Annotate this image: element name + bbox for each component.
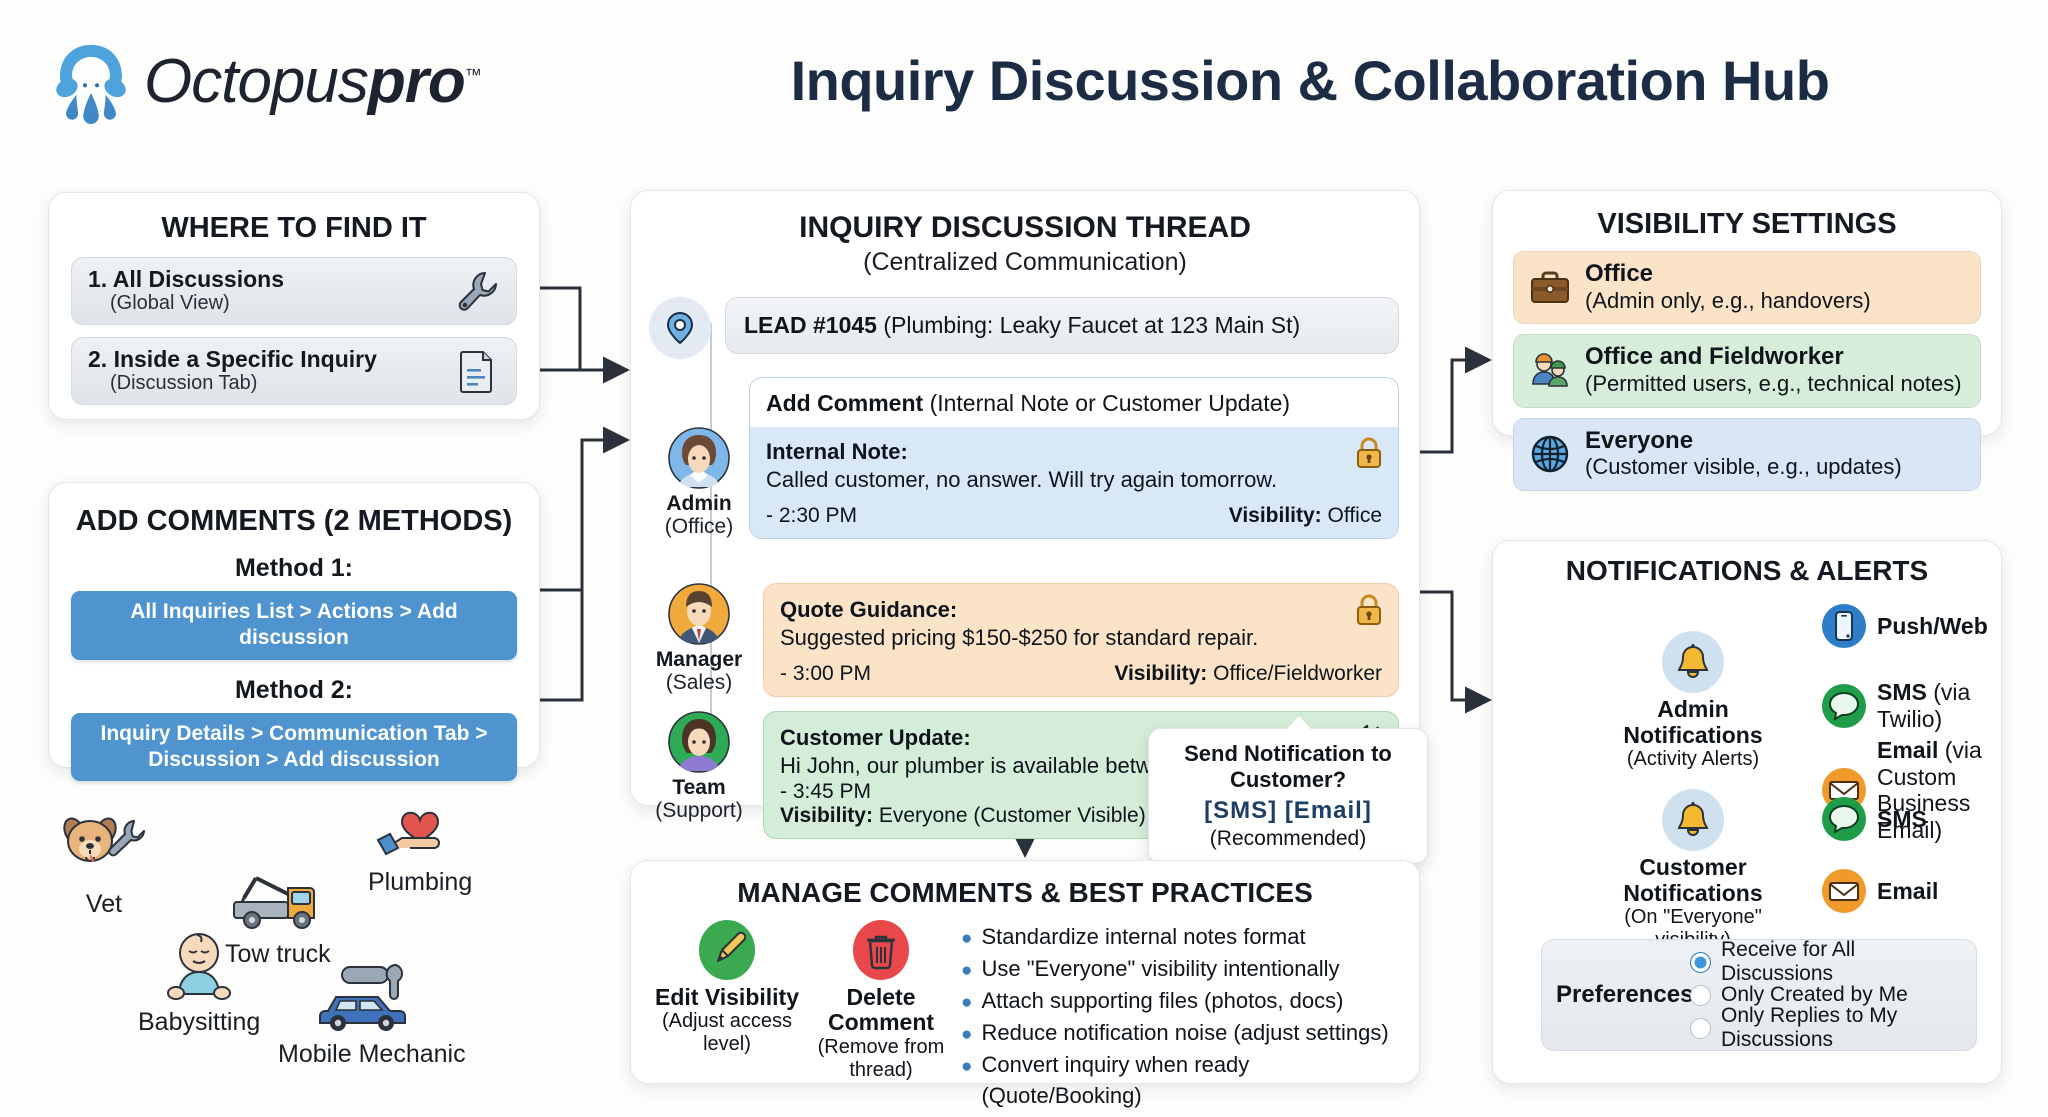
message-title: Quote Guidance: <box>780 596 1382 624</box>
method-1-path[interactable]: All Inquiries List > Actions > Add discu… <box>71 591 517 660</box>
add-comments-card: ADD COMMENTS (2 METHODS) Method 1: All I… <box>48 482 540 768</box>
add-comment-hint: (Internal Note or Customer Update) <box>930 390 1291 416</box>
service-label: Mobile Mechanic <box>278 1040 466 1069</box>
dog-wrench-icon <box>58 810 150 888</box>
page-title: Inquiry Discussion & Collaboration Hub <box>610 48 2010 113</box>
message-title: Internal Note: <box>766 438 1382 466</box>
channel-name: Email <box>1877 878 1938 904</box>
visibility-option-text: Office and Fieldworker (Permitted users,… <box>1585 344 1962 397</box>
manage-action-sub: (Remove from thread) <box>807 1036 955 1082</box>
list-item: ●Standardize internal notes format <box>961 921 1401 953</box>
brand-wordmark: Octopuspro™ <box>144 46 481 117</box>
tip-text: Standardize internal notes format <box>981 921 1305 952</box>
visibility-label: Visibility: <box>1229 504 1322 527</box>
message-time: - 3:00 PM <box>780 662 871 686</box>
service-vet: Vet <box>58 810 150 919</box>
send-notification-title: Send Notification to Customer? <box>1159 741 1417 793</box>
manage-comments-title: MANAGE COMMENTS & BEST PRACTICES <box>631 877 1419 909</box>
car-wrench-icon <box>278 960 466 1038</box>
customer-notifications-hub: Customer Notifications (On "Everyone" vi… <box>1593 789 1793 952</box>
team-avatar-icon <box>668 711 730 773</box>
add-comment-header: Add Comment (Internal Note or Customer U… <box>750 378 1398 427</box>
service-tow-truck: Tow truck <box>225 860 331 969</box>
bell-icon <box>1662 631 1724 693</box>
send-notification-popup: Send Notification to Customer? [SMS] [Em… <box>1148 728 1428 864</box>
preference-option-all-discussions[interactable]: Receive for All Discussions <box>1690 946 1962 979</box>
brand-logo: Octopuspro™ <box>48 38 481 124</box>
preference-label: Receive for All Discussions <box>1721 938 1962 986</box>
edit-pencil-icon <box>696 919 758 981</box>
bell-icon <box>1662 789 1724 851</box>
service-label: Babysitting <box>138 1008 260 1037</box>
tip-text: Use "Everyone" visibility intentionally <box>981 953 1339 984</box>
visibility-option-name: Office <box>1585 261 1871 288</box>
message-author-role: (Sales) <box>649 671 749 694</box>
location-pin-icon <box>649 297 711 359</box>
where-to-find-it-card: WHERE TO FIND IT 1. All Discussions (Glo… <box>48 192 540 420</box>
preference-option-replies-to-my-discussions[interactable]: Only Replies to My Discussions <box>1690 1012 1962 1045</box>
find-row-label: 1. All Discussions <box>88 267 452 292</box>
manage-comments-card: MANAGE COMMENTS & BEST PRACTICES Edit Vi… <box>630 860 1420 1084</box>
wrench-icon <box>452 267 500 315</box>
octopus-logo-icon <box>48 38 134 124</box>
message-footer: - 2:30 PM Visibility: Office <box>766 504 1382 528</box>
tip-text: Attach supporting files (photos, docs) <box>981 985 1343 1016</box>
method-1-label: Method 1: <box>49 554 539 583</box>
visibility-option-everyone[interactable]: Everyone (Customer visible, e.g., update… <box>1513 418 1981 491</box>
visibility-option-desc: (Customer visible, e.g., updates) <box>1585 454 1902 480</box>
notifications-alerts-card: NOTIFICATIONS & ALERTS Admin Notificatio… <box>1492 540 2002 1084</box>
channel-label: SMS <box>1877 806 1927 833</box>
where-to-find-it-title: WHERE TO FIND IT <box>49 212 539 245</box>
visibility-value: Office <box>1328 504 1382 527</box>
edit-visibility-action[interactable]: Edit Visibility (Adjust access level) <box>653 919 801 1111</box>
channel-push-web: Push/Web <box>1821 603 1988 649</box>
manager-avatar-icon <box>668 583 730 645</box>
tip-text: Reduce notification noise (adjust settin… <box>981 1017 1388 1048</box>
thread-subtitle: (Centralized Communication) <box>631 248 1419 277</box>
message-author: Team <box>649 776 749 799</box>
visibility-option-text: Office (Admin only, e.g., handovers) <box>1585 261 1871 314</box>
trademark-symbol: ™ <box>465 65 481 84</box>
hand-heart-icon <box>368 788 472 866</box>
add-comment-block: Add Comment (Internal Note or Customer U… <box>749 377 1399 539</box>
visibility-option-name: Office and Fieldworker <box>1585 344 1962 371</box>
message-author-role: (Support) <box>649 799 749 822</box>
visibility-option-office[interactable]: Office (Admin only, e.g., handovers) <box>1513 251 1981 324</box>
thread-title: INQUIRY DISCUSSION THREAD <box>631 211 1419 245</box>
delete-trash-icon <box>850 919 912 981</box>
message-text: Suggested pricing $150-$250 for standard… <box>780 624 1382 653</box>
send-notification-actions[interactable]: [SMS] [Email] <box>1159 797 1417 825</box>
list-item: ●Use "Everyone" visibility intentionally <box>961 953 1401 985</box>
lead-bubble: LEAD #1045 (Plumbing: Leaky Faucet at 12… <box>725 297 1399 354</box>
manage-action-name: Edit Visibility <box>653 985 801 1010</box>
message-footer: - 3:00 PM Visibility: Office/Fieldworker <box>780 662 1382 686</box>
channel-name: Push/Web <box>1877 613 1988 639</box>
find-row-inside-inquiry[interactable]: 2. Inside a Specific Inquiry (Discussion… <box>71 337 517 405</box>
admin-avatar-icon <box>668 427 730 489</box>
preferences-label: Preferences <box>1556 981 1690 1009</box>
service-mobile-mechanic: Mobile Mechanic <box>278 960 466 1069</box>
admin-notifications-hub: Admin Notifications (Activity Alerts) <box>1593 631 1793 771</box>
inquiry-discussion-thread-card: INQUIRY DISCUSSION THREAD (Centralized C… <box>630 190 1420 806</box>
service-plumbing: Plumbing <box>368 788 472 897</box>
document-icon <box>452 347 500 395</box>
bullet-icon: ● <box>961 1054 972 1081</box>
channel-sms-customer: SMS <box>1821 796 1927 842</box>
bullet-icon: ● <box>961 1022 972 1049</box>
method-2-label: Method 2: <box>49 676 539 705</box>
channel-label: SMS (via Twilio) <box>1877 679 2001 732</box>
message-visibility: Visibility: Office/Fieldworker <box>1114 662 1382 686</box>
message-row-admin: Admin (Office) <box>649 427 749 538</box>
visibility-option-desc: (Admin only, e.g., handovers) <box>1585 288 1871 314</box>
manage-action-name: Delete Comment <box>807 985 955 1036</box>
lead-id: LEAD #1045 <box>744 312 877 338</box>
list-item: ●Reduce notification noise (adjust setti… <box>961 1017 1401 1049</box>
message-time: - 2:30 PM <box>766 504 857 528</box>
visibility-option-office-fieldworker[interactable]: Office and Fieldworker (Permitted users,… <box>1513 334 1981 407</box>
visibility-option-text: Everyone (Customer visible, e.g., update… <box>1585 428 1902 481</box>
preferences-box: Preferences Receive for All Discussions … <box>1541 939 1977 1051</box>
email-envelope-icon <box>1821 868 1867 914</box>
workers-icon <box>1528 349 1572 393</box>
message-text: Called customer, no answer. Will try aga… <box>766 466 1382 495</box>
best-practices-list: ●Standardize internal notes format ●Use … <box>961 919 1401 1111</box>
lead-row: LEAD #1045 (Plumbing: Leaky Faucet at 12… <box>649 297 1399 359</box>
channel-sms-admin: SMS (via Twilio) <box>1821 679 2001 732</box>
message-visibility: Visibility: Office <box>1229 504 1382 528</box>
find-row-text: 2. Inside a Specific Inquiry (Discussion… <box>88 347 452 395</box>
avatar-block-admin: Admin (Office) <box>649 427 749 538</box>
channel-label: Email <box>1877 878 1938 905</box>
find-row-sublabel: (Discussion Tab) <box>110 372 452 395</box>
avatar-block-team: Team (Support) <box>649 711 749 822</box>
message-author: Admin <box>649 492 749 515</box>
visibility-label: Visibility: <box>1114 662 1207 685</box>
brand-name-light: Octopus <box>144 47 368 116</box>
channel-name: SMS <box>1877 679 1927 705</box>
bullet-icon: ● <box>961 926 972 953</box>
channel-label: Push/Web <box>1877 613 1988 640</box>
add-comments-title: ADD COMMENTS (2 METHODS) <box>49 505 539 538</box>
radio-icon[interactable] <box>1690 1018 1711 1039</box>
preference-label: Only Replies to My Discussions <box>1721 1004 1962 1052</box>
briefcase-icon <box>1528 266 1572 310</box>
list-item: ●Convert inquiry when ready (Quote/Booki… <box>961 1049 1401 1111</box>
visibility-option-desc: (Permitted users, e.g., technical notes) <box>1585 371 1962 397</box>
tow-truck-icon <box>225 860 331 938</box>
message-row-manager: Manager (Sales) Quote Guidance: Suggeste… <box>649 583 1399 697</box>
list-item: ●Attach supporting files (photos, docs) <box>961 985 1401 1017</box>
tip-text: Convert inquiry when ready (Quote/Bookin… <box>981 1049 1401 1111</box>
find-row-text: 1. All Discussions (Global View) <box>88 267 452 315</box>
radio-icon[interactable] <box>1690 985 1711 1006</box>
find-row-label: 2. Inside a Specific Inquiry <box>88 347 452 372</box>
send-notification-note: (Recommended) <box>1159 827 1417 851</box>
page-header: Octopuspro™ Inquiry Discussion & Collabo… <box>0 0 2048 150</box>
hub-title: Admin Notifications <box>1593 696 1793 748</box>
sms-bubble-icon <box>1821 683 1867 729</box>
visibility-settings-card: VISIBILITY SETTINGS Office (Admin only, … <box>1492 190 2002 436</box>
method-2-path[interactable]: Inquiry Details > Communication Tab > Di… <box>71 713 517 782</box>
internal-note-bubble: Internal Note: Called customer, no answe… <box>750 427 1398 538</box>
bullet-icon: ● <box>961 958 972 985</box>
message-author: Manager <box>649 648 749 671</box>
visibility-label: Visibility: <box>780 804 873 827</box>
manage-comments-body: Edit Visibility (Adjust access level) De… <box>631 909 1419 1111</box>
sms-bubble-icon <box>1821 796 1867 842</box>
hub-subtitle: (Activity Alerts) <box>1593 748 1793 771</box>
channel-email-customer: Email <box>1821 868 1938 914</box>
preferences-options: Receive for All Discussions Only Created… <box>1690 946 1962 1045</box>
find-row-sublabel: (Global View) <box>110 292 452 315</box>
notifications-title: NOTIFICATIONS & ALERTS <box>1493 555 2001 587</box>
service-categories: Vet Babysitting <box>40 800 560 1080</box>
message-author-role: (Office) <box>649 515 749 538</box>
channel-name: SMS <box>1877 806 1927 832</box>
brand-name-bold: pro <box>368 47 465 116</box>
delete-comment-action[interactable]: Delete Comment (Remove from thread) <box>807 919 955 1111</box>
visibility-value: Everyone (Customer Visible) <box>879 804 1146 827</box>
avatar-block-manager: Manager (Sales) <box>649 583 749 694</box>
globe-icon <box>1528 432 1572 476</box>
push-phone-icon <box>1821 603 1867 649</box>
add-comment-label: Add Comment <box>766 390 923 416</box>
radio-icon-selected[interactable] <box>1690 952 1711 973</box>
channel-name: Email <box>1877 737 1938 763</box>
quote-guidance-bubble: Quote Guidance: Suggested pricing $150-$… <box>763 583 1399 697</box>
hub-title: Customer Notifications <box>1593 854 1793 906</box>
service-label: Vet <box>58 890 150 919</box>
visibility-option-name: Everyone <box>1585 428 1902 455</box>
find-row-all-discussions[interactable]: 1. All Discussions (Global View) <box>71 257 517 325</box>
lead-detail: (Plumbing: Leaky Faucet at 123 Main St) <box>883 312 1300 338</box>
visibility-settings-title: VISIBILITY SETTINGS <box>1493 208 2001 241</box>
lock-icon <box>1354 437 1384 469</box>
manage-action-sub: (Adjust access level) <box>653 1010 801 1056</box>
visibility-value: Office/Fieldworker <box>1213 662 1382 685</box>
lock-icon <box>1354 594 1384 626</box>
infographic-canvas: Octopuspro™ Inquiry Discussion & Collabo… <box>0 0 2048 1117</box>
service-label: Plumbing <box>368 868 472 897</box>
bullet-icon: ● <box>961 990 972 1017</box>
